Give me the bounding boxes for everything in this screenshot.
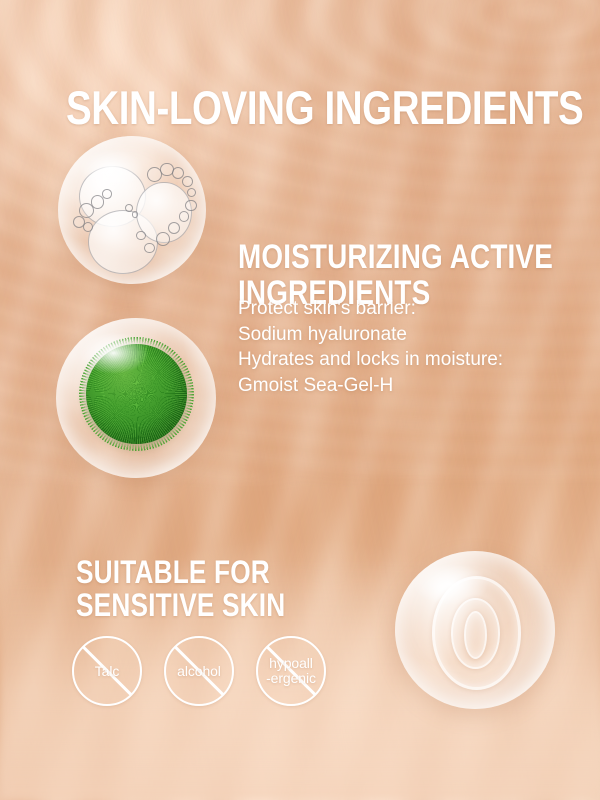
page-title: SKIN-LOVING INGREDIENTS (66, 83, 583, 133)
gel-highlight (414, 564, 488, 605)
product-ingredient-poster: SKIN-LOVING INGREDIENTS (0, 0, 600, 800)
bubble-cluster (58, 136, 206, 284)
moss-fuzz-wrapper (86, 344, 187, 445)
no-alcohol-badge: alcohol (164, 636, 234, 706)
body-line-4: Gmoist Sea-Gel-H (238, 373, 538, 399)
no-talc-badge: Talc (72, 636, 142, 706)
moss-fuzz (79, 337, 194, 452)
hypoallergenic-badge: hypoall -ergenic (256, 636, 326, 706)
body-line-2: Sodium hyaluronate (238, 322, 538, 348)
sensitive-skin-heading: SUITABLE FOR SENSITIVE SKIN (76, 556, 347, 624)
moisturizing-body: Protect skin's barrier: Sodium hyalurona… (238, 296, 538, 398)
free-from-badge-row: Talc alcohol hypoall -ergenic (72, 636, 326, 706)
body-line-3: Hydrates and locks in moisture: (238, 347, 538, 373)
badge-label-alcohol: alcohol (177, 664, 221, 679)
moss-sphere-image (56, 318, 216, 478)
badge-label-talc: Talc (95, 664, 120, 679)
body-line-1: Protect skin's barrier: (238, 296, 538, 322)
gel-ring-core (464, 611, 487, 659)
droplet-sphere-image (58, 136, 206, 284)
gel-blob-image (395, 551, 555, 709)
badge-label-hypoallergenic: hypoall -ergenic (266, 656, 316, 686)
